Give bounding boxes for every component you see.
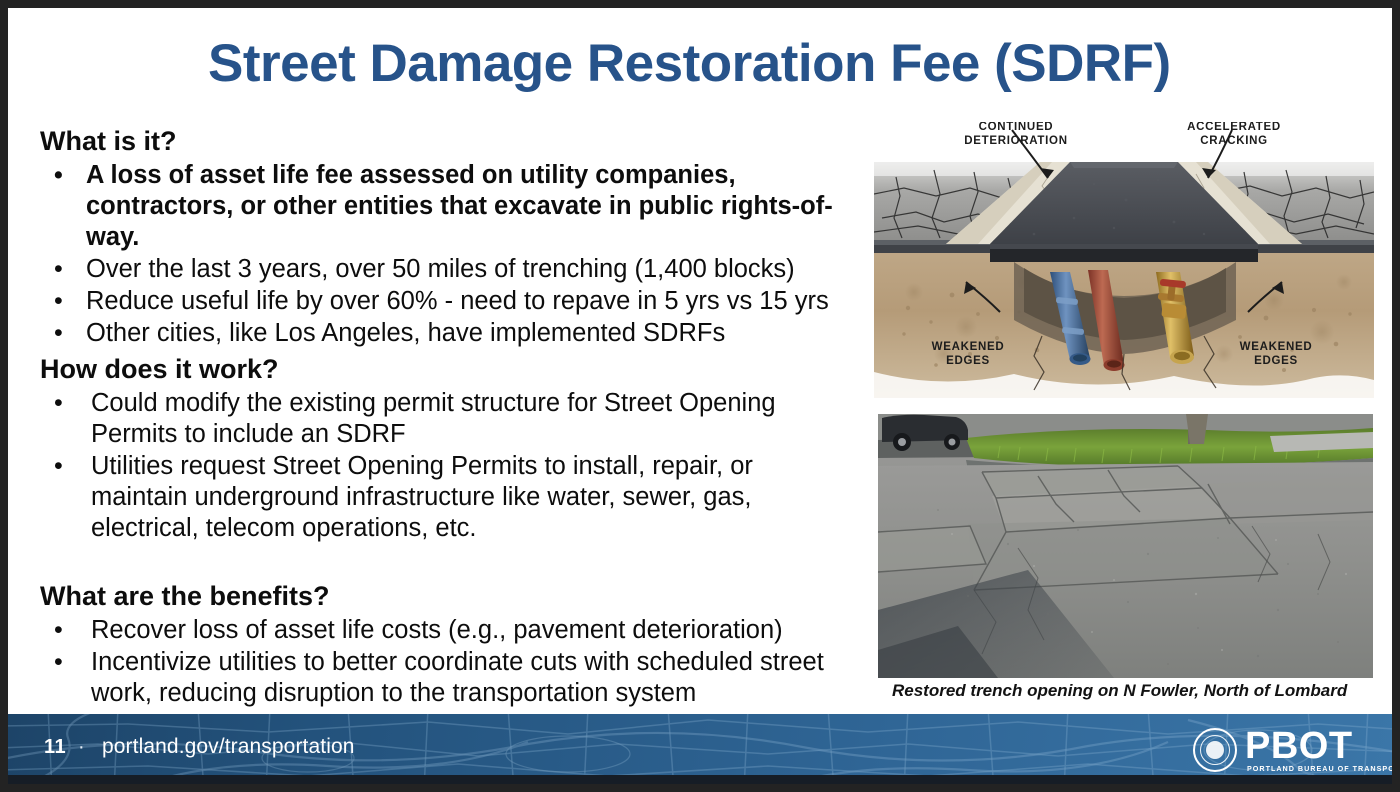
list-item: • Incentivize utilities to better coordi… bbox=[40, 647, 850, 709]
pbot-wordmark: PBOT bbox=[1245, 727, 1353, 765]
slide-canvas: Street Damage Restoration Fee (SDRF) Wha… bbox=[8, 8, 1392, 784]
slide-frame: Street Damage Restoration Fee (SDRF) Wha… bbox=[0, 0, 1400, 792]
pbot-logo: PBOT PORTLAND BUREAU OF TRANSPORTATION bbox=[1193, 728, 1368, 774]
list-item: • Other cities, like Los Angeles, have i… bbox=[40, 318, 850, 349]
bullet-glyph: • bbox=[54, 451, 63, 482]
list-item: • Could modify the existing permit struc… bbox=[40, 388, 850, 450]
bullet-glyph: • bbox=[54, 318, 63, 349]
label-line-1: ACCELERATED bbox=[1154, 122, 1314, 134]
list-item-text: Other cities, like Los Angeles, have imp… bbox=[86, 319, 725, 347]
footer-separator: · bbox=[78, 736, 85, 759]
bullet-glyph: • bbox=[54, 254, 63, 285]
list-item-text: Reduce useful life by over 60% - need to… bbox=[86, 287, 829, 315]
bullet-list: • A loss of asset life fee assessed on u… bbox=[40, 160, 850, 349]
label-line-2: DETERIORATION bbox=[936, 134, 1096, 148]
footer-bottom-strip bbox=[8, 775, 1392, 784]
section-what-is-it: What is it? • A loss of asset life fee a… bbox=[40, 124, 850, 350]
photo-svg bbox=[878, 414, 1373, 678]
list-item-text: Could modify the existing permit structu… bbox=[91, 389, 776, 448]
bullet-glyph: • bbox=[54, 647, 63, 678]
photo-caption: Restored trench opening on N Fowler, Nor… bbox=[892, 681, 1392, 701]
label-line-1: WEAKENED bbox=[908, 340, 1028, 354]
list-item-text: Utilities request Street Opening Permits… bbox=[91, 452, 753, 542]
list-item-text: Over the last 3 years, over 50 miles of … bbox=[86, 255, 795, 283]
bullet-list: • Recover loss of asset life costs (e.g.… bbox=[40, 615, 850, 709]
footer-page-number: 11 bbox=[44, 736, 66, 759]
illustration-label-weakened-edges-left: WEAKENED EDGES bbox=[908, 340, 1028, 368]
pbot-subtitle: PORTLAND BUREAU OF TRANSPORTATION bbox=[1247, 764, 1392, 773]
label-line-2: EDGES bbox=[1216, 354, 1336, 368]
slide-footer: 11 · portland.gov/transportation PBOT PO… bbox=[8, 714, 1392, 784]
label-line-2: CRACKING bbox=[1154, 134, 1314, 148]
section-heading: What is it? bbox=[40, 124, 850, 158]
bullet-glyph: • bbox=[54, 160, 63, 191]
label-line-1: WEAKENED bbox=[1216, 340, 1336, 354]
illustration-label-continued-deterioration: CONTINUED DETERIORATION bbox=[936, 122, 1096, 148]
section-heading: How does it work? bbox=[40, 352, 850, 386]
restored-trench-photo bbox=[878, 414, 1373, 678]
list-item: • Recover loss of asset life costs (e.g.… bbox=[40, 615, 850, 646]
bullet-glyph: • bbox=[54, 286, 63, 317]
label-line-1: CONTINUED bbox=[936, 122, 1096, 134]
list-item-text: A loss of asset life fee assessed on uti… bbox=[86, 161, 833, 251]
list-item-text: Recover loss of asset life costs (e.g., … bbox=[91, 616, 783, 644]
page-title: Street Damage Restoration Fee (SDRF) bbox=[208, 33, 1218, 95]
footer-url: portland.gov/transportation bbox=[102, 735, 355, 759]
bullet-glyph: • bbox=[54, 388, 63, 419]
bullet-glyph: • bbox=[54, 615, 63, 646]
list-item: • A loss of asset life fee assessed on u… bbox=[40, 160, 850, 253]
bullet-list: • Could modify the existing permit struc… bbox=[40, 388, 850, 544]
list-item: • Reduce useful life by over 60% - need … bbox=[40, 286, 850, 317]
label-line-2: EDGES bbox=[908, 354, 1028, 368]
section-heading: What are the benefits? bbox=[40, 579, 850, 613]
seal-core bbox=[1206, 741, 1224, 759]
trench-cross-section-illustration: CONTINUED DETERIORATION ACCELERATED CRAC… bbox=[874, 122, 1374, 398]
illustration-label-accelerated-cracking: ACCELERATED CRACKING bbox=[1154, 122, 1314, 148]
list-item-text: Incentivize utilities to better coordina… bbox=[91, 648, 824, 707]
list-item: • Utilities request Street Opening Permi… bbox=[40, 451, 850, 544]
city-seal-icon bbox=[1193, 728, 1237, 772]
content-column: What is it? • A loss of asset life fee a… bbox=[40, 124, 850, 724]
section-benefits: What are the benefits? • Recover loss of… bbox=[40, 579, 850, 710]
illustration-label-weakened-edges-right: WEAKENED EDGES bbox=[1216, 340, 1336, 368]
list-item: • Over the last 3 years, over 50 miles o… bbox=[40, 254, 850, 285]
section-how-does-it-work: How does it work? • Could modify the exi… bbox=[40, 352, 850, 545]
